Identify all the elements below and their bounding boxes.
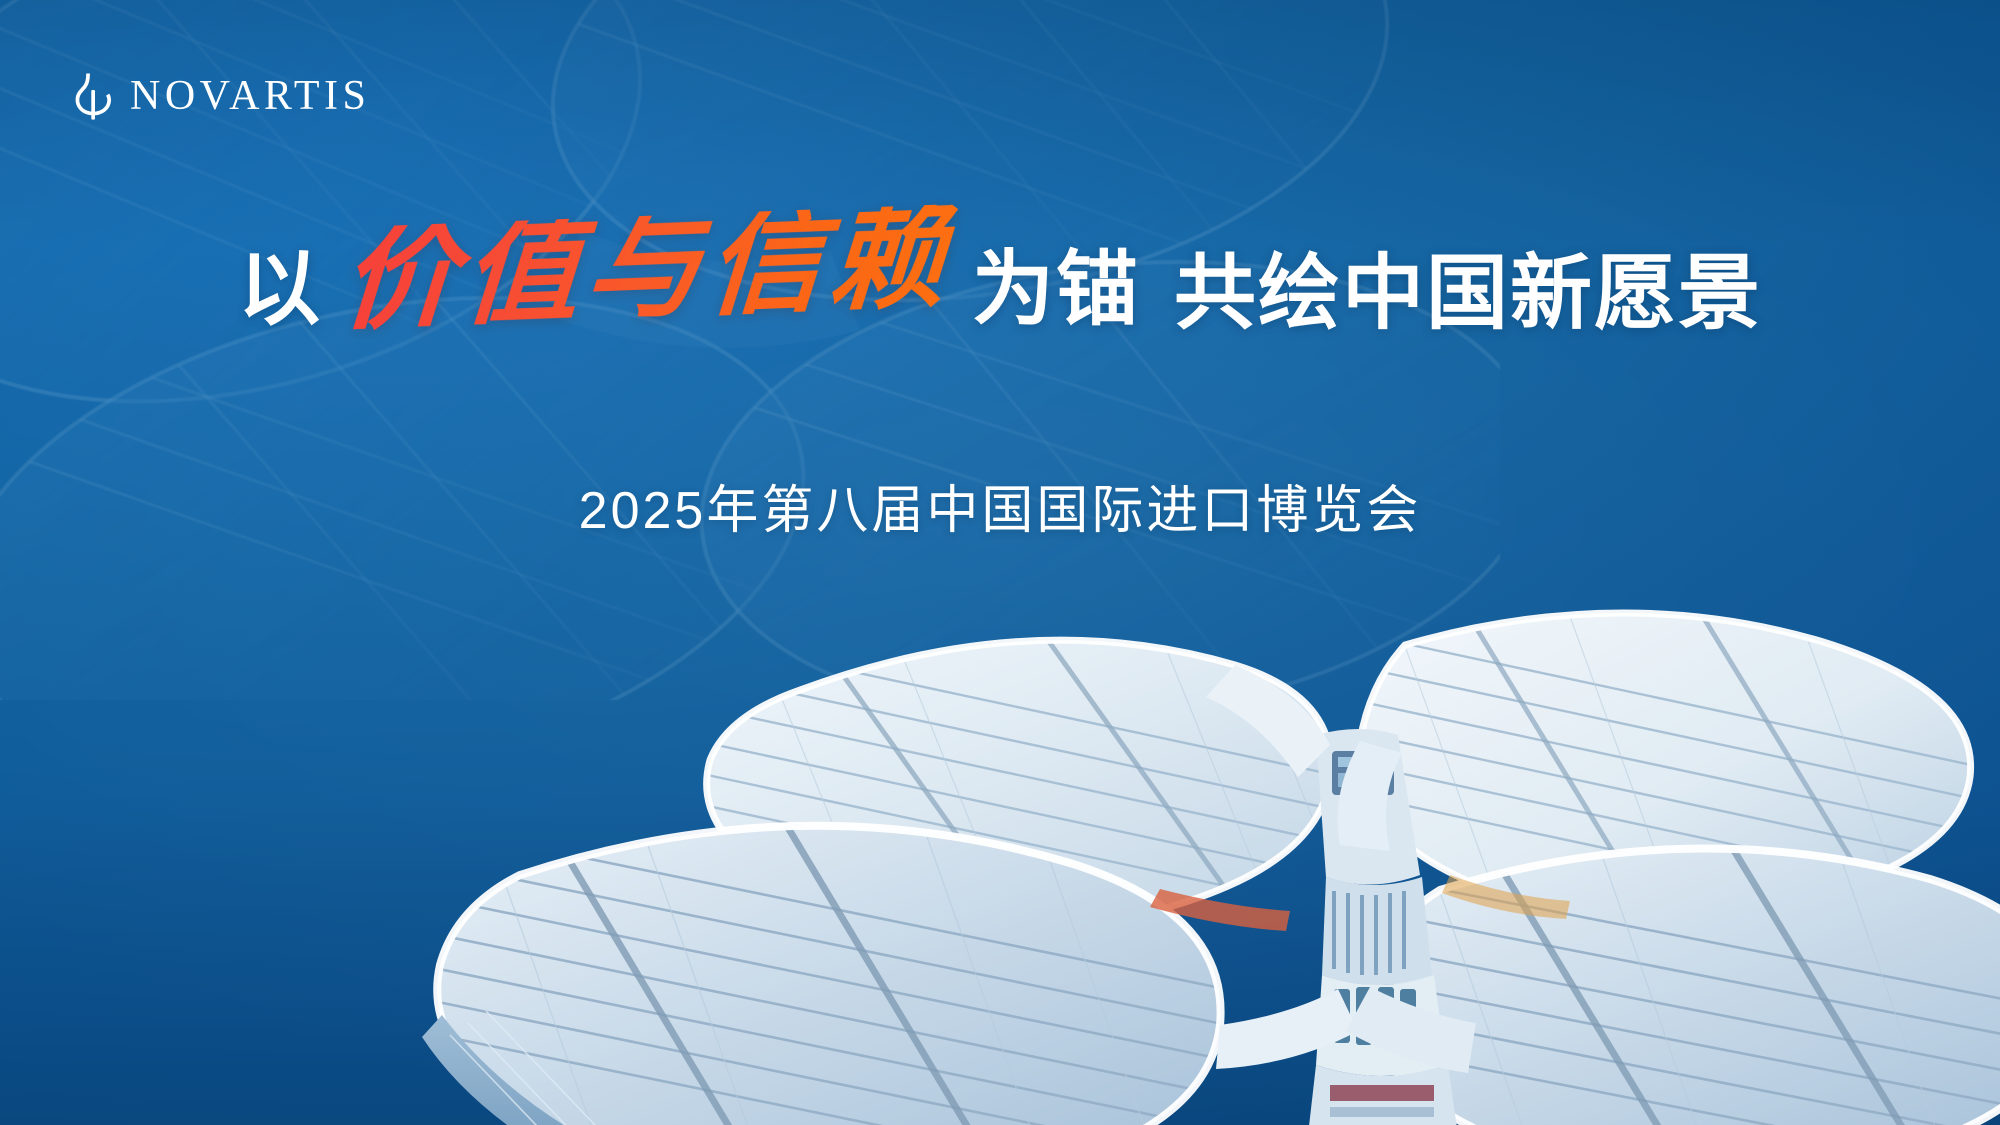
novartis-logo: NOVARTIS xyxy=(74,70,370,122)
headline-tail-second: 共绘中国新愿景 xyxy=(1174,253,1762,335)
novartis-wordmark: NOVARTIS xyxy=(130,75,370,117)
headline: 以 价值与信赖 为锚 共绘中国新愿景 xyxy=(0,228,2000,335)
subtitle: 2025年第八届中国国际进口博览会 xyxy=(0,485,2000,537)
background-vignette xyxy=(0,0,2000,1125)
headline-lead: 以 xyxy=(238,249,322,335)
poster-canvas: NOVARTIS 以 价值与信赖 为锚 共绘中国新愿景 2025年第八届中国国际… xyxy=(0,0,2000,1125)
novartis-flame-icon xyxy=(74,70,114,122)
headline-highlight: 价值与信赖 xyxy=(332,204,961,335)
headline-tail-first: 为锚 xyxy=(972,249,1140,335)
